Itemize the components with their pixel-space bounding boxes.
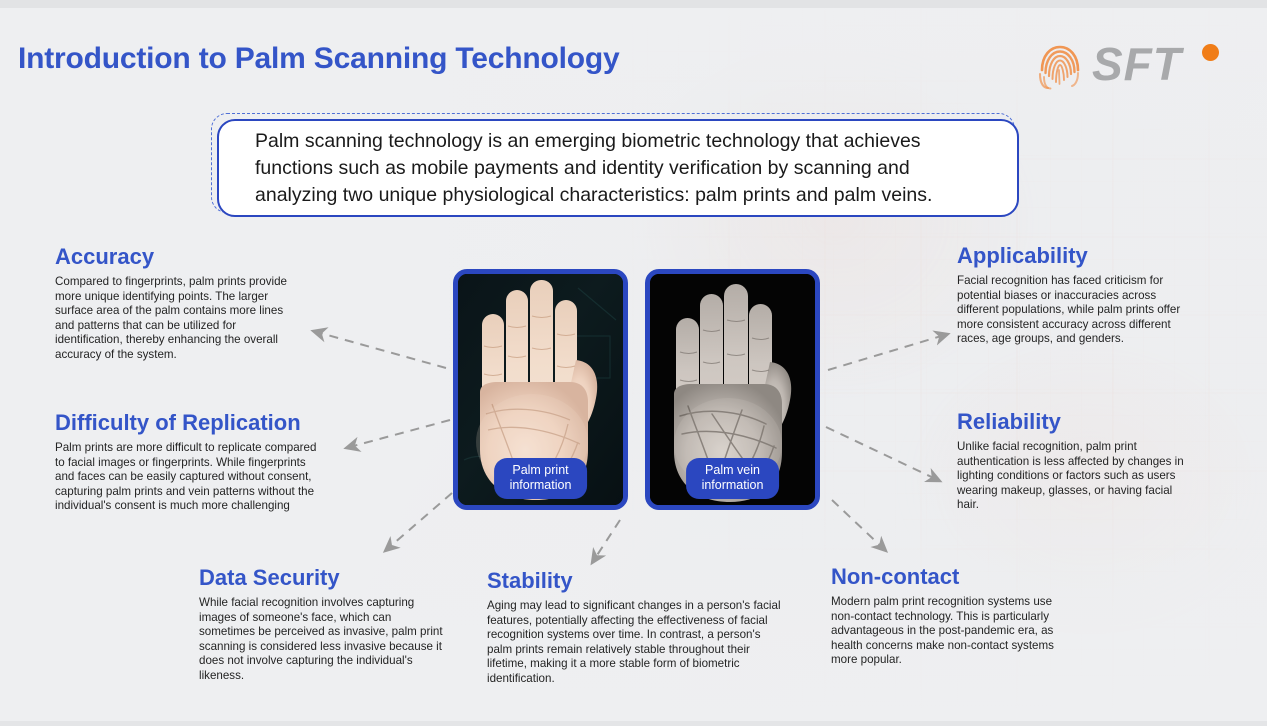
feature-reliability-title: Reliability (957, 409, 1187, 435)
feature-applicability: Applicability Facial recognition has fac… (957, 243, 1197, 347)
feature-accuracy-body: Compared to fingerprints, palm prints pr… (55, 275, 305, 362)
feature-accuracy: Accuracy Compared to fingerprints, palm … (55, 244, 305, 362)
feature-data-security-body: While facial recognition involves captur… (199, 596, 449, 683)
feature-applicability-body: Facial recognition has faced criticism f… (957, 274, 1197, 347)
fingerprint-icon (1034, 40, 1086, 92)
feature-non-contact-body: Modern palm print recognition systems us… (831, 595, 1056, 668)
logo-accent-dot (1202, 44, 1219, 61)
feature-data-security: Data Security While facial recognition i… (199, 565, 449, 683)
bottom-edge-strip (0, 721, 1267, 726)
brand-logo: SFT (1034, 38, 1234, 94)
feature-accuracy-title: Accuracy (55, 244, 305, 270)
feature-difficulty-of-replication-body: Palm prints are more difficult to replic… (55, 441, 327, 514)
page-title: Introduction to Palm Scanning Technology (18, 42, 619, 76)
slide-canvas: Introduction to Palm Scanning Technology… (0, 0, 1267, 726)
top-edge-strip (0, 0, 1267, 8)
palm-vein-label-line1: Palm vein (705, 463, 760, 477)
feature-stability-body: Aging may lead to significant changes in… (487, 599, 787, 686)
palm-print-label-line1: Palm print (512, 463, 568, 477)
summary-callout: Palm scanning technology is an emerging … (211, 113, 1021, 221)
feature-reliability-body: Unlike facial recognition, palm print au… (957, 440, 1187, 513)
feature-non-contact: Non-contact Modern palm print recognitio… (831, 564, 1056, 668)
feature-data-security-title: Data Security (199, 565, 449, 591)
palm-vein-label: Palm vein information (686, 458, 780, 499)
logo-wordmark: SFT (1092, 36, 1182, 92)
feature-non-contact-title: Non-contact (831, 564, 1056, 590)
callout-text: Palm scanning technology is an emerging … (219, 128, 1017, 209)
palm-print-label: Palm print information (494, 458, 588, 499)
palm-vein-label-line2: information (702, 478, 764, 492)
feature-reliability: Reliability Unlike facial recognition, p… (957, 409, 1187, 513)
feature-difficulty-of-replication: Difficulty of Replication Palm prints ar… (55, 410, 327, 514)
feature-applicability-title: Applicability (957, 243, 1197, 269)
callout-box: Palm scanning technology is an emerging … (217, 119, 1019, 217)
feature-stability: Stability Aging may lead to significant … (487, 568, 787, 686)
palm-vein-image-card[interactable]: Palm vein information (645, 269, 820, 510)
feature-difficulty-of-replication-title: Difficulty of Replication (55, 410, 327, 436)
feature-stability-title: Stability (487, 568, 787, 594)
palm-print-label-line2: information (510, 478, 572, 492)
palm-print-image-card[interactable]: Palm print information (453, 269, 628, 510)
